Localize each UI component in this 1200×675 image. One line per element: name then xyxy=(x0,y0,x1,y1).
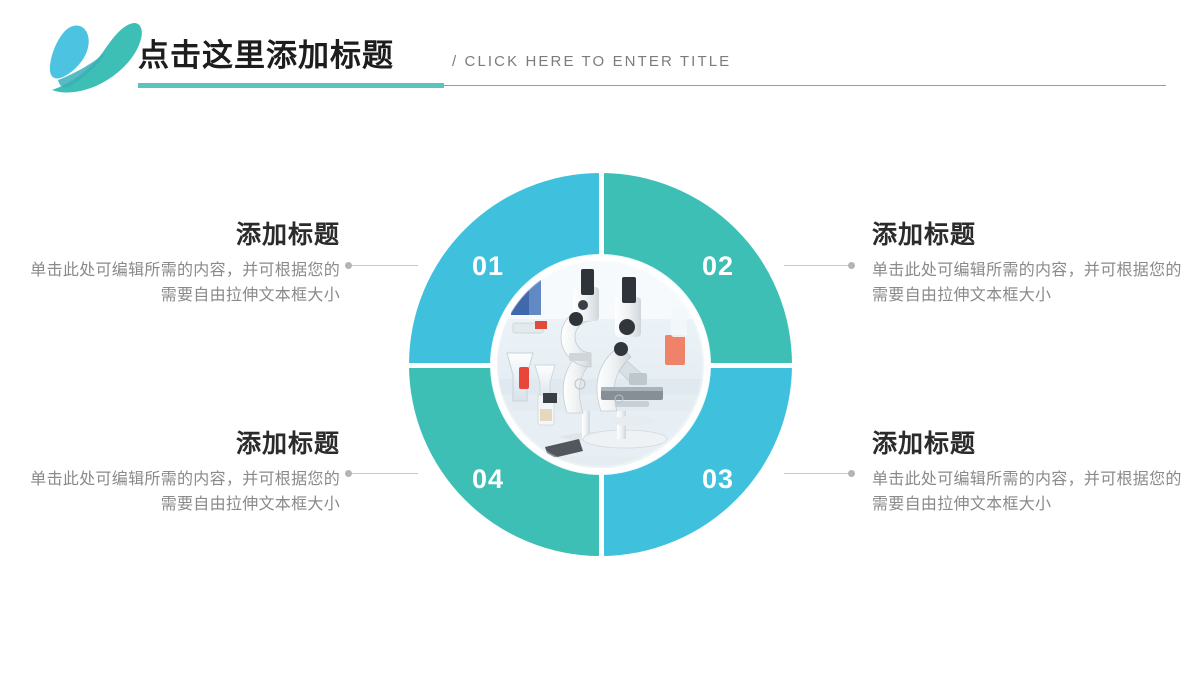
info-block-01-title: 添加标题 xyxy=(20,218,340,252)
quadrant-number-02: 02 xyxy=(702,251,734,281)
connector-line-02 xyxy=(784,265,850,266)
page-subtitle: / CLICK HERE TO ENTER TITLE xyxy=(452,52,731,72)
center-photo-ring xyxy=(491,255,710,474)
quadrant-number-03: 03 xyxy=(702,464,734,494)
connector-dot-04 xyxy=(345,470,352,477)
info-block-02: 添加标题 单击此处可编辑所需的内容，并可根据您的需要自由拉伸文本框大小 xyxy=(872,218,1192,308)
connector-dot-02 xyxy=(848,262,855,269)
slide-canvas: 点击这里添加标题 / CLICK HERE TO ENTER TITLE 01 … xyxy=(0,0,1200,675)
info-block-03: 添加标题 单击此处可编辑所需的内容，并可根据您的需要自由拉伸文本框大小 xyxy=(872,427,1192,517)
quadrant-number-01: 01 xyxy=(472,251,504,281)
laboratory-microscopes-photo xyxy=(497,261,704,468)
info-block-04: 添加标题 单击此处可编辑所需的内容，并可根据您的需要自由拉伸文本框大小 xyxy=(20,427,340,517)
connector-dot-01 xyxy=(345,262,352,269)
info-block-04-body: 单击此处可编辑所需的内容，并可根据您的需要自由拉伸文本框大小 xyxy=(20,467,340,517)
info-block-04-title: 添加标题 xyxy=(20,427,340,461)
connector-line-03 xyxy=(784,473,850,474)
title-accent-rule xyxy=(138,83,444,88)
page-title: 点击这里添加标题 xyxy=(138,36,394,76)
slide-header: 点击这里添加标题 / CLICK HERE TO ENTER TITLE xyxy=(0,0,1200,110)
info-block-02-body: 单击此处可编辑所需的内容，并可根据您的需要自由拉伸文本框大小 xyxy=(872,258,1192,308)
info-block-02-title: 添加标题 xyxy=(872,218,1192,252)
four-quadrant-donut: 01 02 03 04 xyxy=(409,173,792,556)
butterfly-logo xyxy=(40,18,145,96)
title-thin-rule xyxy=(444,85,1166,86)
info-block-03-body: 单击此处可编辑所需的内容，并可根据您的需要自由拉伸文本框大小 xyxy=(872,467,1192,517)
info-block-01-body: 单击此处可编辑所需的内容，并可根据您的需要自由拉伸文本框大小 xyxy=(20,258,340,308)
info-block-01: 添加标题 单击此处可编辑所需的内容，并可根据您的需要自由拉伸文本框大小 xyxy=(20,218,340,308)
connector-dot-03 xyxy=(848,470,855,477)
info-block-03-title: 添加标题 xyxy=(872,427,1192,461)
quadrant-number-04: 04 xyxy=(472,464,504,494)
